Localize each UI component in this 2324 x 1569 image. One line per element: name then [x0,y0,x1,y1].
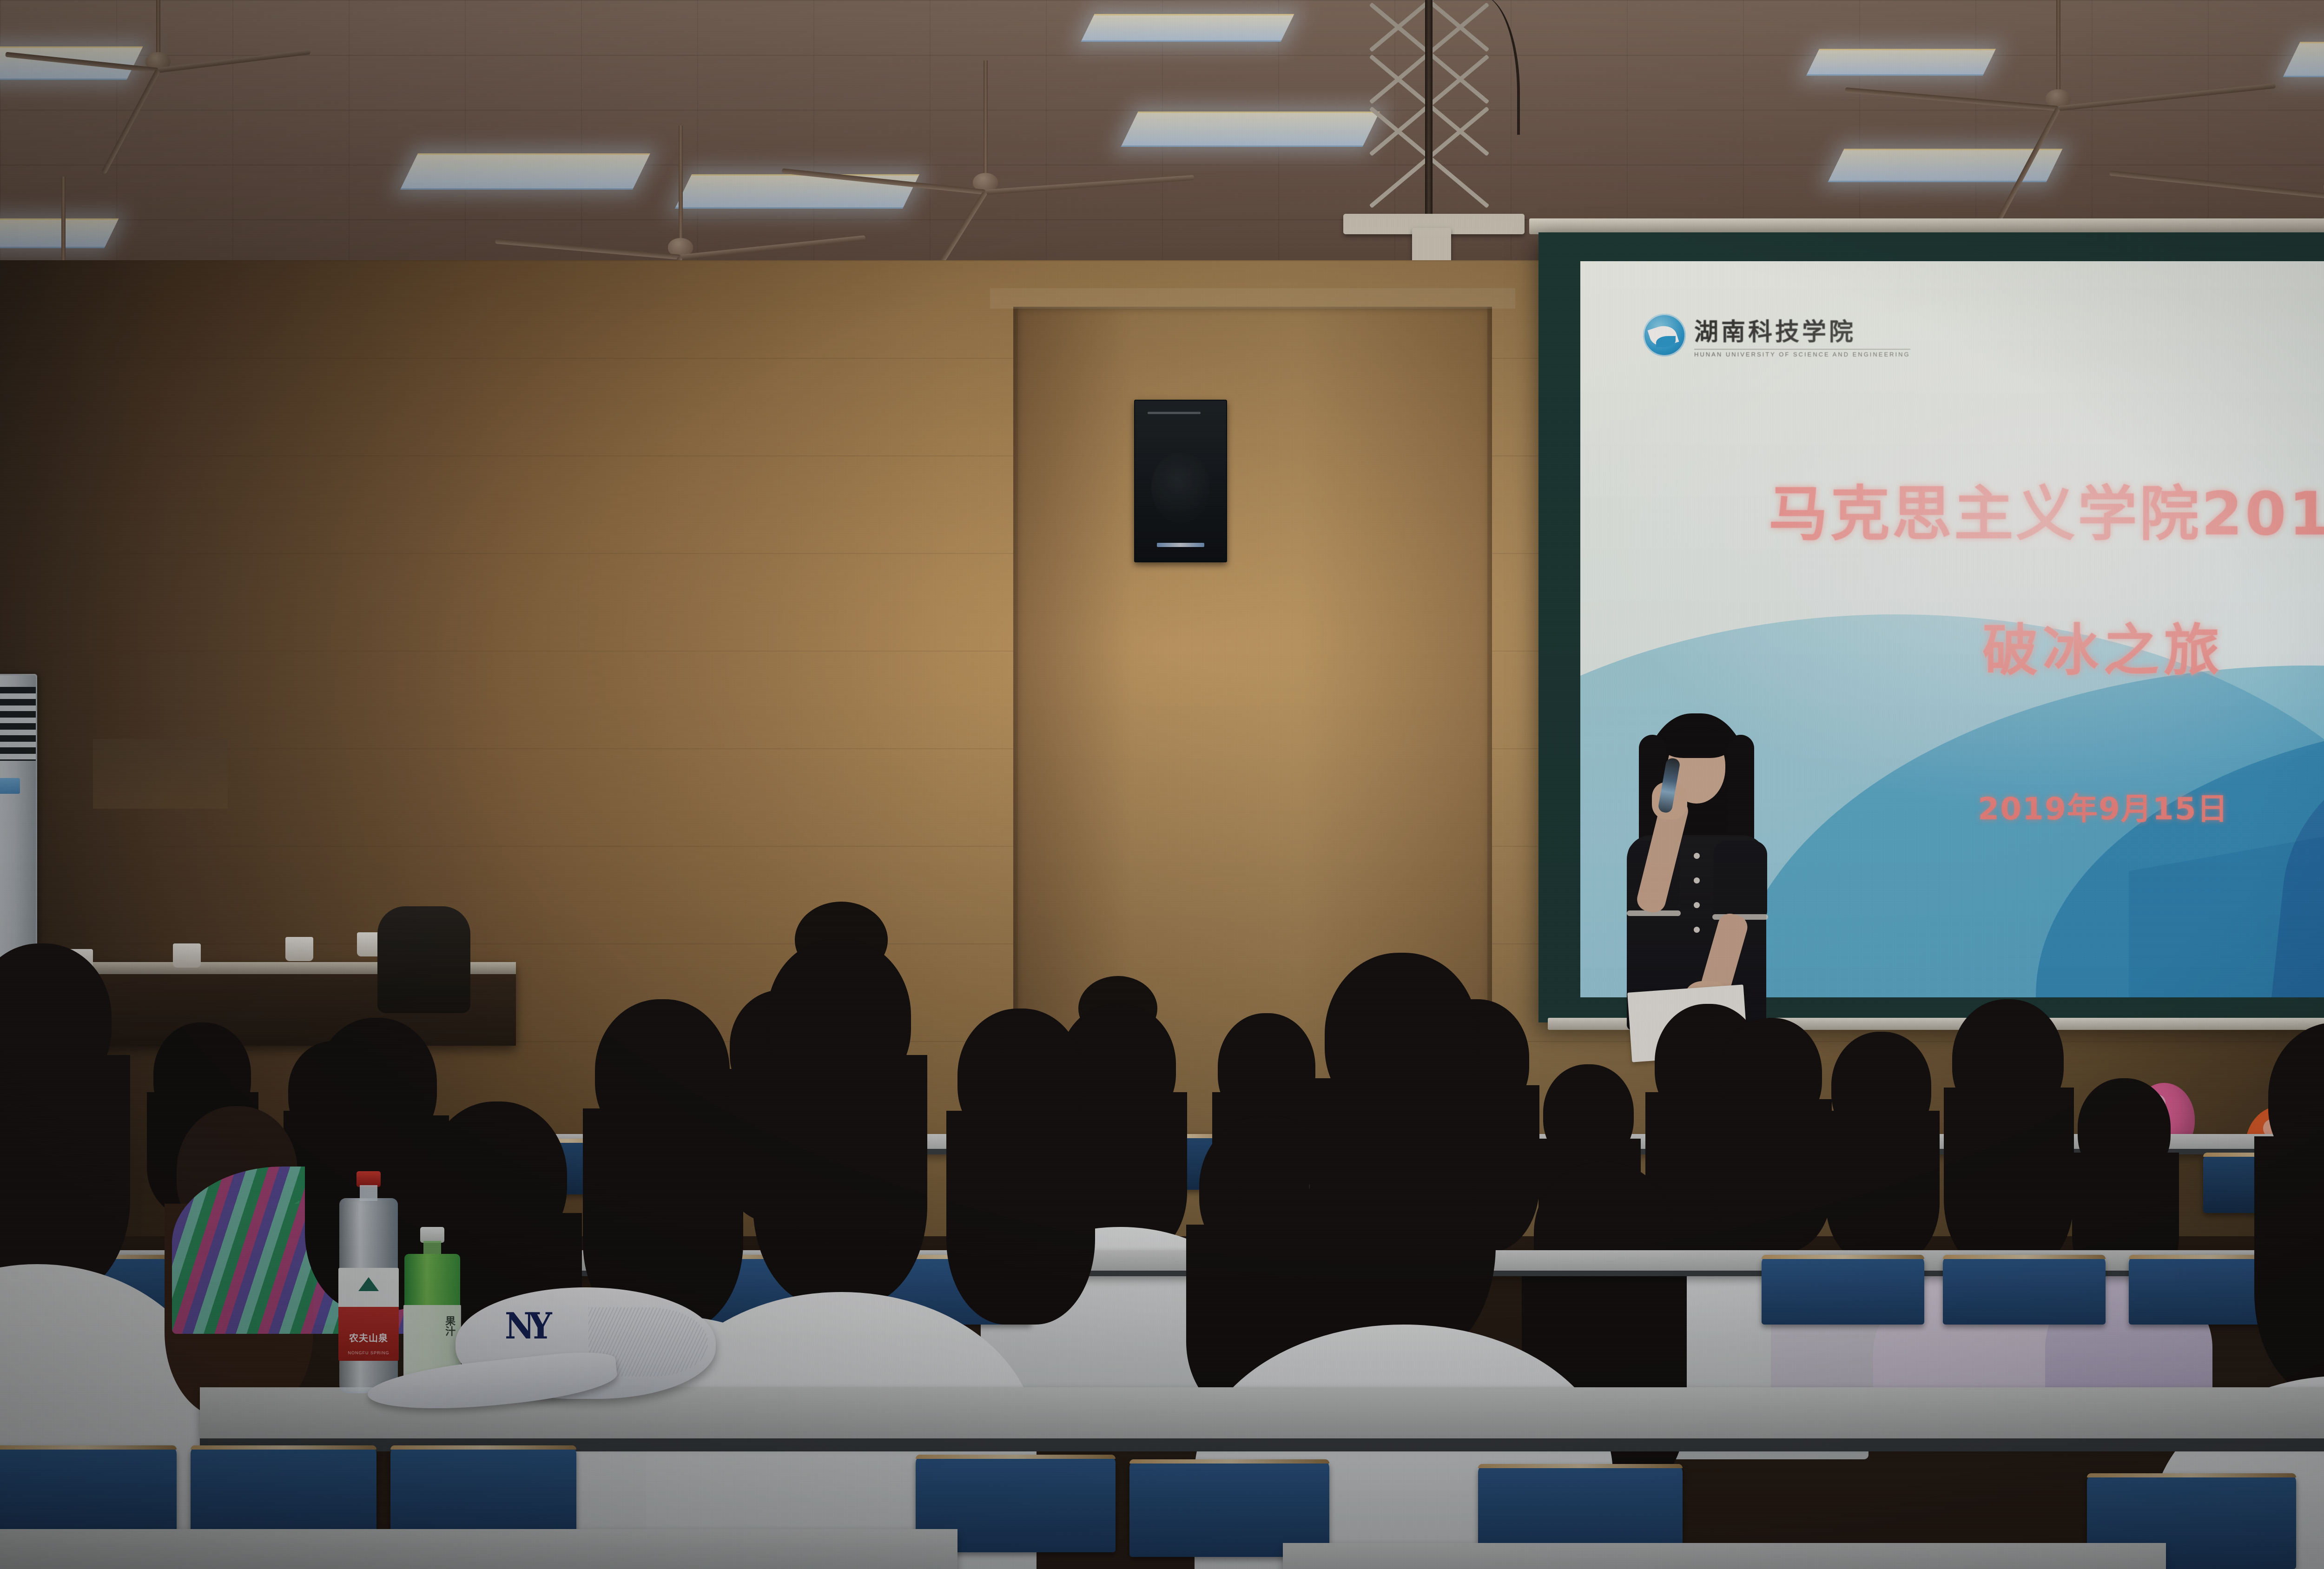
ceiling-fan [2068,56,2324,242]
person-hair [1713,1099,1832,1253]
office-chair [377,906,470,1013]
cap-logo: NY [505,1305,546,1347]
speaker-brand-badge [1157,543,1204,547]
presenter-bangs [1664,727,1729,758]
ceiling-fan [14,0,302,121]
auditorium-seat-front [0,1445,177,1538]
ac-grille [0,687,36,761]
desk-row-nearest [1283,1543,2166,1569]
screen-roller-housing [1529,218,2324,234]
university-name-en: HUNAN UNIVERSITY OF SCIENCE AND ENGINEER… [1694,349,1910,358]
university-emblem-icon [1643,314,1686,356]
university-logo: 湖南科技学院 HUNAN UNIVERSITY OF SCIENCE AND E… [1643,312,1910,358]
water-bottle: 农夫山泉 NONGFU SPRING [339,1171,398,1394]
bottle-cap [357,1171,381,1187]
person-hair [1944,1088,2074,1273]
power-cable [1464,0,1520,135]
bottle-label: 农夫山泉 NONGFU SPRING [338,1268,399,1361]
person-hair [1826,1111,1940,1264]
person-hair [1310,1078,1496,1357]
auditorium-seat-front [191,1445,376,1538]
auditorium-seat [1943,1255,2106,1325]
auditorium-seat-front [390,1445,576,1538]
paper-cup [285,937,313,961]
ac-brand-badge [0,778,20,794]
person-hair [946,1111,1095,1325]
bottle-cap [420,1227,444,1243]
auditorium-seat-front [1129,1459,1329,1557]
wall-speaker [1134,400,1227,562]
ceiling-fan [772,60,1236,237]
presenter-sleeve-right [1713,841,1767,919]
drink-label-cn: 果汁 [442,1316,456,1336]
presenter-speaker [1604,713,1789,1039]
bottle-brand-en: NONGFU SPRING [338,1351,399,1355]
floor-standing-air-conditioner [0,674,37,962]
lift-mast [1425,0,1433,214]
auditorium-seat [1762,1255,1924,1325]
slide-title-line2: 破冰之旅 [1580,605,2324,686]
paper-cup [173,943,201,968]
lecture-hall-photo: 湖南科技学院 HUNAN UNIVERSITY OF SCIENCE AND E… [0,0,2324,1569]
person-hair [0,1055,130,1297]
university-name-cn: 湖南科技学院 [1694,312,1910,347]
bottle-body: 农夫山泉 NONGFU SPRING [339,1198,398,1393]
person-hair [753,1055,927,1306]
presenter-button-placket [1694,853,1700,951]
baseball-cap: NY [456,1287,716,1399]
desk-row-nearest [0,1529,957,1569]
bottle-brand-cn: 农夫山泉 [338,1331,399,1344]
slide-title-line1: 马克思主义学院2019级 [1580,466,2324,552]
speaker-port-slot [1148,412,1201,414]
mountain-triangle-icon [358,1277,379,1291]
scissor-lift [1334,0,1534,218]
speaker-driver [1151,452,1209,523]
person-hair [2254,1136,2324,1397]
